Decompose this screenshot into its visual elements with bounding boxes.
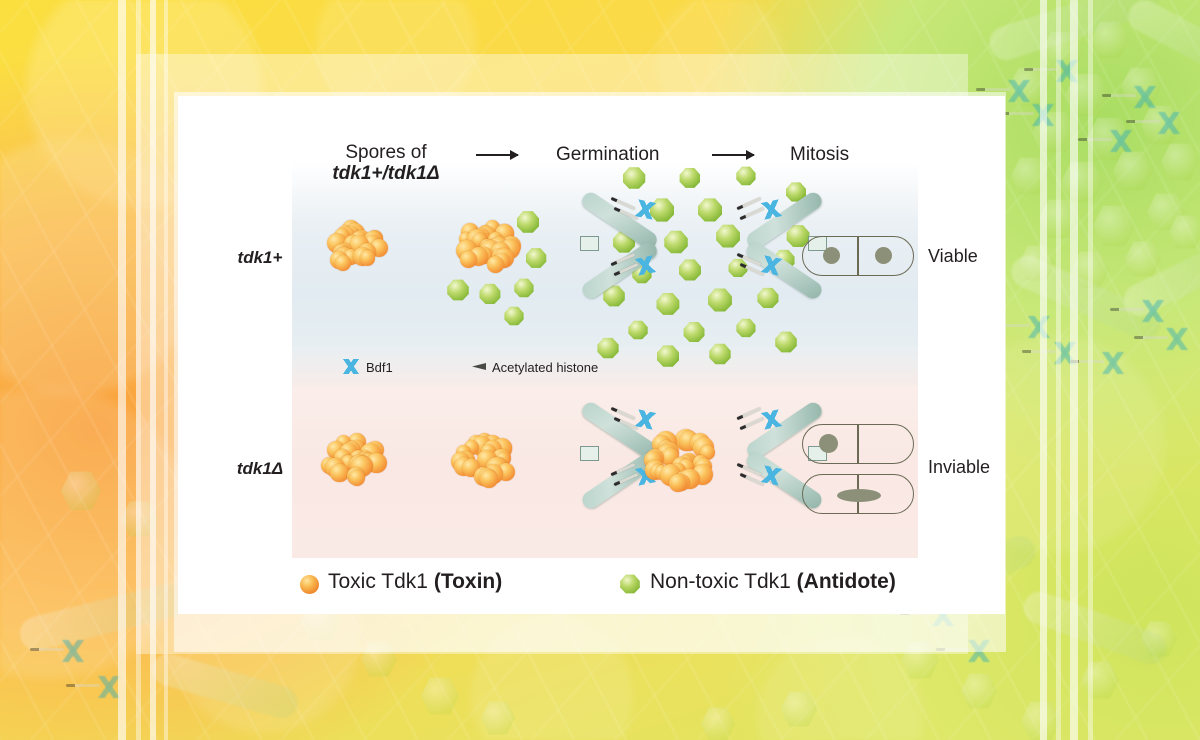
acetyl-flag-icon	[472, 363, 486, 370]
centromere	[580, 446, 599, 461]
bdf1-bowtie	[634, 409, 656, 430]
background-bdf1-glyph	[1164, 328, 1190, 350]
background-histone-tick	[1022, 350, 1056, 353]
cell-nucleus	[875, 247, 892, 264]
toxin-sphere	[480, 470, 498, 488]
arrow-to-mitosis	[712, 154, 754, 156]
background-histone-tick	[1102, 94, 1136, 97]
green-hexagon-icon	[620, 574, 640, 594]
bdf1-bowtie	[760, 255, 782, 276]
decor-stripe	[1088, 0, 1093, 740]
background-histone-tick	[1110, 308, 1144, 311]
figure-legend: Toxic Tdk1 (Toxin) Non-toxic Tdk1 (Antid…	[228, 566, 918, 606]
background-histone-tick	[976, 88, 1010, 91]
decor-stripe	[1070, 0, 1078, 740]
cell-capsule	[802, 236, 914, 276]
cell-nucleus	[837, 489, 881, 502]
bdf1-bowtie	[634, 199, 656, 220]
row-label-tdk1-plus: tdk1+	[228, 248, 292, 268]
background-histone-tick	[30, 648, 64, 651]
centromere	[580, 236, 599, 251]
cell-capsule	[802, 424, 914, 464]
background-bdf1-glyph	[1132, 86, 1158, 108]
background-histone-tick	[1134, 336, 1168, 339]
chromosome	[580, 174, 676, 324]
header-germination: Germination	[556, 144, 660, 166]
background-bdf1-glyph	[1156, 112, 1182, 134]
header-spores-line1: Spores of	[345, 142, 426, 163]
toxin-sphere	[349, 470, 365, 486]
legend-antidote-text: Non-toxic Tdk1	[650, 570, 797, 593]
cell-septum	[857, 237, 859, 275]
inner-key: Bdf1 Acetylated histone	[292, 354, 918, 382]
orange-circle-icon	[300, 575, 319, 594]
legend-antidote: Non-toxic Tdk1 (Antidote)	[650, 570, 896, 594]
cell-nucleus	[819, 434, 838, 453]
toxin-sphere	[487, 256, 504, 273]
decor-stripe	[1056, 0, 1061, 740]
background-histone-tick	[1078, 138, 1112, 141]
header-spores-line2: tdk1+/tdk1Δ	[332, 163, 439, 184]
figure-panel: Spores of tdk1+/tdk1Δ Germination Mitosi…	[228, 118, 918, 558]
inner-key-label-acetylated-histone: Acetylated histone	[492, 360, 598, 375]
background-bdf1-glyph	[1026, 316, 1052, 338]
row-label-tdk1-delta: tdk1Δ	[228, 459, 292, 479]
background-histone-tick	[66, 684, 100, 687]
outcome-inviable: Inviable	[928, 457, 990, 478]
header-spores: Spores of tdk1+/tdk1Δ	[306, 142, 466, 184]
background-bdf1-glyph	[1108, 130, 1134, 152]
legend-antidote-bold: (Antidote)	[797, 570, 896, 593]
decor-stripe	[118, 0, 126, 740]
toxin-sphere	[360, 250, 376, 266]
background-bdf1-glyph	[1140, 300, 1166, 322]
cell-nucleus	[823, 247, 840, 264]
poster-canvas: Spores of tdk1+/tdk1Δ Germination Mitosi…	[0, 0, 1200, 740]
toxin-sphere	[460, 251, 477, 268]
bdf1-bowtie-icon	[342, 359, 360, 374]
cell-capsule	[802, 474, 914, 514]
legend-toxin-text: Toxic Tdk1	[328, 570, 434, 593]
inner-key-label-bdf1: Bdf1	[366, 360, 393, 375]
background-bdf1-glyph	[60, 640, 86, 662]
background-bdf1-glyph	[1006, 80, 1032, 102]
decor-stripe	[1040, 0, 1047, 740]
arrow-to-germination	[476, 154, 518, 156]
background-bdf1-glyph	[1100, 352, 1126, 374]
header-mitosis: Mitosis	[790, 144, 849, 166]
background-histone-tick	[1126, 120, 1160, 123]
toxin-sphere	[330, 464, 349, 483]
toxin-sphere	[669, 474, 687, 492]
legend-toxin-bold: (Toxin)	[434, 570, 502, 593]
bdf1-bowtie	[760, 465, 782, 486]
legend-toxin: Toxic Tdk1 (Toxin)	[328, 570, 502, 594]
cell-septum	[857, 425, 859, 463]
outcome-viable: Viable	[928, 246, 978, 267]
